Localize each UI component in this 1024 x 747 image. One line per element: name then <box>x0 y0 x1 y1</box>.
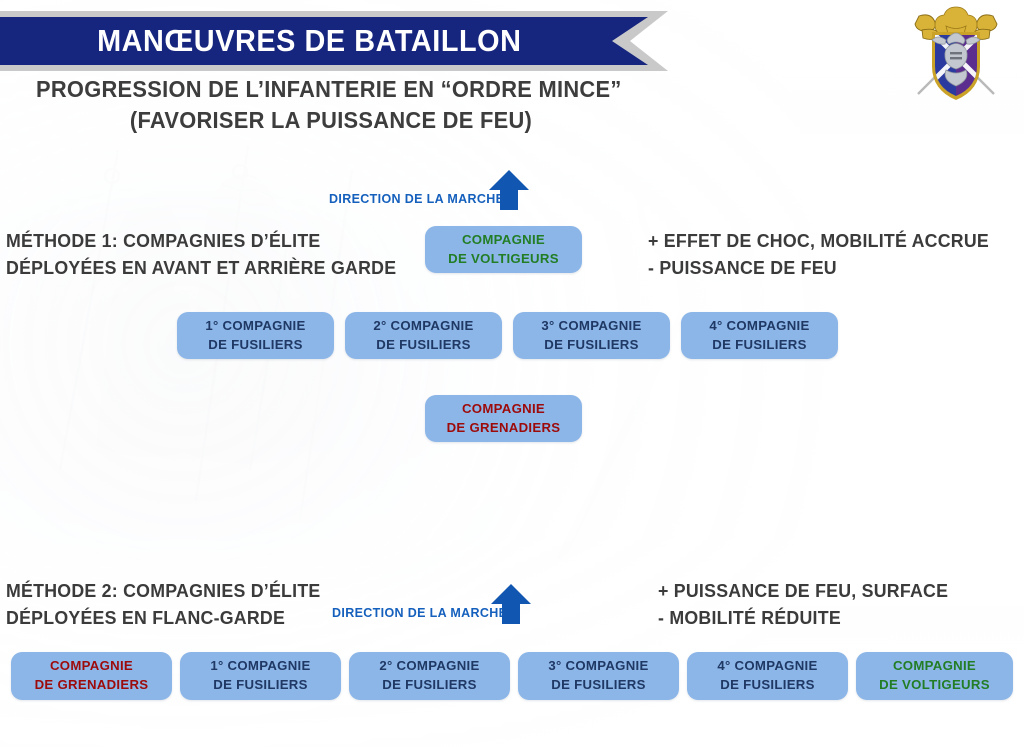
method-2-march-direction-arrow-icon <box>489 583 533 625</box>
method-2-unit-voltigeurs[interactable]: COMPAGNIE DE VOLTIGEURS <box>856 652 1013 700</box>
unit-label-line-2: DE FUSILIERS <box>382 676 476 695</box>
method-2-notes-line-2: - MOBILITÉ RÉDUITE <box>658 605 948 632</box>
slide-canvas: MANŒUVRES DE BATAILLON PROGRESSION DE L’… <box>0 0 1024 747</box>
unit-label-line-1: 2° COMPAGNIE <box>373 317 473 336</box>
unit-label-line-2: DE FUSILIERS <box>208 336 302 355</box>
subtitle-line-1: PROGRESSION DE L’INFANTERIE EN “ORDRE MI… <box>36 74 597 105</box>
unit-label-line-1: 3° COMPAGNIE <box>548 657 648 676</box>
method-2-notes-line-1: + PUISSANCE DE FEU, SURFACE <box>658 578 948 605</box>
method-2-label: MÉTHODE 2: COMPAGNIES D’ÉLITE DÉPLOYÉES … <box>6 578 321 632</box>
unit-label-line-2: DE VOLTIGEURS <box>448 250 559 269</box>
method-1-notes-line-1: + EFFET DE CHOC, MOBILITÉ ACCRUE <box>648 228 989 255</box>
method-2-unit-fusiliers-2[interactable]: 2° COMPAGNIE DE FUSILIERS <box>349 652 510 700</box>
unit-label-line-2: DE FUSILIERS <box>376 336 470 355</box>
page-title: MANŒUVRES DE BATAILLON <box>97 23 551 59</box>
method-1-label-line-2: DÉPLOYÉES EN AVANT ET ARRIÈRE GARDE <box>6 255 396 282</box>
method-2-unit-fusiliers-1[interactable]: 1° COMPAGNIE DE FUSILIERS <box>180 652 341 700</box>
unit-label-line-1: 1° COMPAGNIE <box>205 317 305 336</box>
method-2-unit-grenadiers[interactable]: COMPAGNIE DE GRENADIERS <box>11 652 172 700</box>
unit-label-line-1: 4° COMPAGNIE <box>717 657 817 676</box>
unit-label-line-2: DE FUSILIERS <box>544 336 638 355</box>
unit-label-line-1: COMPAGNIE <box>462 231 545 250</box>
method-2-unit-fusiliers-3[interactable]: 3° COMPAGNIE DE FUSILIERS <box>518 652 679 700</box>
method-1-unit-fusiliers-4[interactable]: 4° COMPAGNIE DE FUSILIERS <box>681 312 838 359</box>
unit-label-line-1: COMPAGNIE <box>462 400 545 419</box>
method-1-unit-fusiliers-2[interactable]: 2° COMPAGNIE DE FUSILIERS <box>345 312 502 359</box>
unit-label-line-1: COMPAGNIE <box>50 657 133 676</box>
method-1-label: MÉTHODE 1: COMPAGNIES D’ÉLITE DÉPLOYÉES … <box>6 228 396 282</box>
unit-label-line-1: 1° COMPAGNIE <box>210 657 310 676</box>
unit-label-line-2: DE FUSILIERS <box>213 676 307 695</box>
method-2-label-line-1: MÉTHODE 2: COMPAGNIES D’ÉLITE <box>6 578 321 605</box>
method-1-unit-voltigeurs[interactable]: COMPAGNIE DE VOLTIGEURS <box>425 226 582 273</box>
unit-label-line-1: 2° COMPAGNIE <box>379 657 479 676</box>
method-1-unit-fusiliers-1[interactable]: 1° COMPAGNIE DE FUSILIERS <box>177 312 334 359</box>
method-2-notes: + PUISSANCE DE FEU, SURFACE - MOBILITÉ R… <box>658 578 948 632</box>
method-1-unit-fusiliers-3[interactable]: 3° COMPAGNIE DE FUSILIERS <box>513 312 670 359</box>
coat-of-arms-icon <box>902 2 1010 106</box>
method-1-march-direction-arrow-icon <box>487 169 531 211</box>
unit-label-line-1: 3° COMPAGNIE <box>541 317 641 336</box>
method-2-march-direction-label: DIRECTION DE LA MARCHE <box>332 606 507 620</box>
unit-label-line-2: DE VOLTIGEURS <box>879 676 990 695</box>
unit-label-line-1: 4° COMPAGNIE <box>709 317 809 336</box>
unit-label-line-2: DE FUSILIERS <box>712 336 806 355</box>
method-2-unit-fusiliers-4[interactable]: 4° COMPAGNIE DE FUSILIERS <box>687 652 848 700</box>
method-1-label-line-1: MÉTHODE 1: COMPAGNIES D’ÉLITE <box>6 228 396 255</box>
method-1-march-direction-label: DIRECTION DE LA MARCHE <box>329 192 504 206</box>
unit-label-line-1: COMPAGNIE <box>893 657 976 676</box>
method-1-unit-grenadiers[interactable]: COMPAGNIE DE GRENADIERS <box>425 395 582 442</box>
unit-label-line-2: DE FUSILIERS <box>720 676 814 695</box>
unit-label-line-2: DE FUSILIERS <box>551 676 645 695</box>
method-1-notes: + EFFET DE CHOC, MOBILITÉ ACCRUE - PUISS… <box>648 228 989 282</box>
method-2-label-line-2: DÉPLOYÉES EN FLANC-GARDE <box>6 605 321 632</box>
unit-label-line-2: DE GRENADIERS <box>447 419 561 438</box>
method-1-notes-line-2: - PUISSANCE DE FEU <box>648 255 989 282</box>
subtitle-line-2: (FAVORISER LA PUISSANCE DE FEU) <box>51 105 612 136</box>
subtitle-block: PROGRESSION DE L’INFANTERIE EN “ORDRE MI… <box>36 74 626 135</box>
title-banner: MANŒUVRES DE BATAILLON <box>0 17 648 65</box>
unit-label-line-2: DE GRENADIERS <box>35 676 149 695</box>
